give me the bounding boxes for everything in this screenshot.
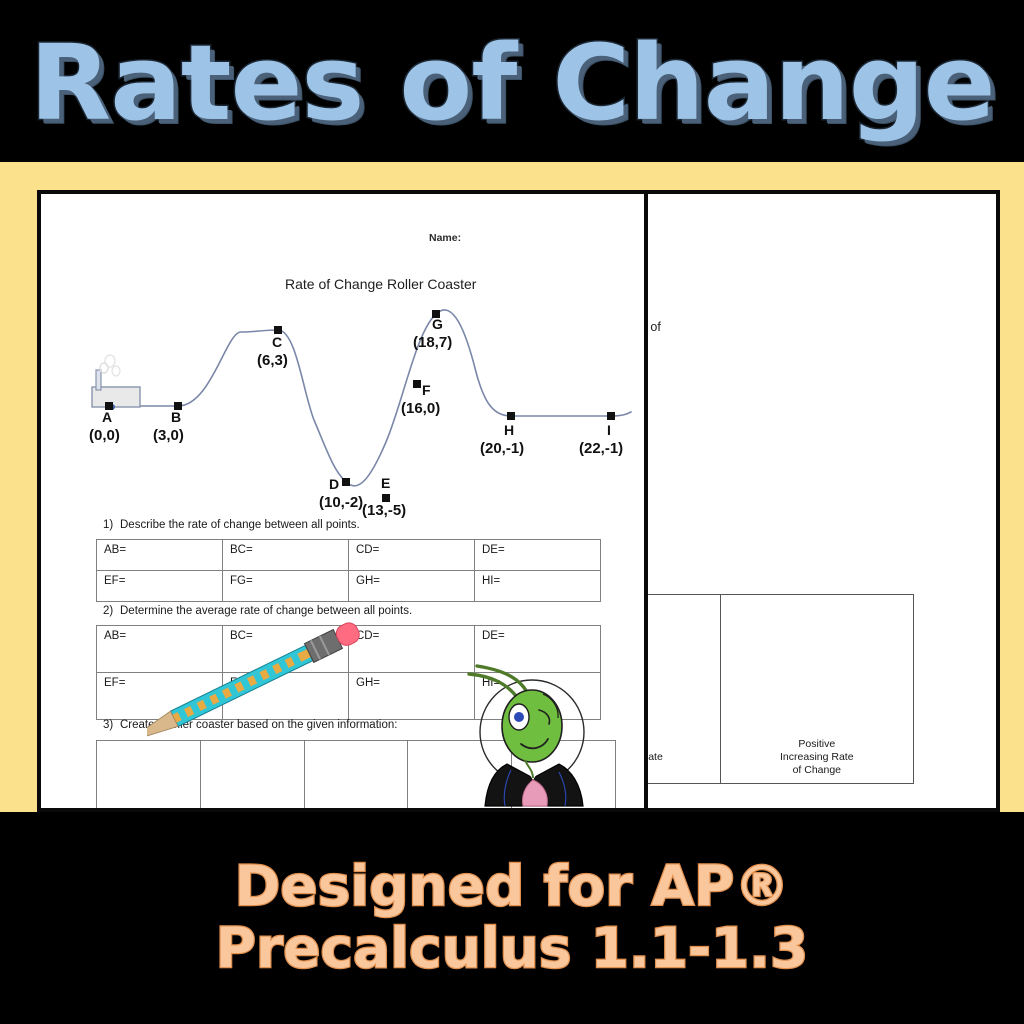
question-3-number: 3) xyxy=(103,719,120,731)
point-label-G: G xyxy=(432,316,443,332)
point-label-D: D xyxy=(329,476,339,492)
cell-fg-1[interactable]: FG= xyxy=(223,571,349,602)
question-1-text: Describe the rate of change between all … xyxy=(120,519,360,531)
cell-bc-2[interactable]: BC= xyxy=(223,626,349,673)
question-1-number: 1) xyxy=(103,519,120,531)
table-row: AB= BC= CD= DE= xyxy=(97,540,601,571)
cell-ab-1[interactable]: AB= xyxy=(97,540,223,571)
cell-hi-2[interactable]: HI= xyxy=(475,673,601,720)
q3-cell-1[interactable] xyxy=(97,741,201,813)
cell-cd-1[interactable]: CD= xyxy=(349,540,475,571)
point-coord-C: (6,3) xyxy=(257,352,288,369)
cell-gh-2[interactable]: GH= xyxy=(349,673,475,720)
question-1-table[interactable]: AB= BC= CD= DE= EF= FG= GH= HI= xyxy=(96,539,601,602)
bottom-line-2: Precalculus 1.1-1.3 xyxy=(216,920,809,978)
point-label-H: H xyxy=(504,422,514,438)
cell-gh-1[interactable]: GH= xyxy=(349,571,475,602)
cell-de-2[interactable]: DE= xyxy=(475,626,601,673)
table-row xyxy=(97,741,616,813)
point-label-I: I xyxy=(607,422,611,438)
point-label-F: F xyxy=(422,382,431,398)
bottom-line-1: Designed for AP® xyxy=(235,858,790,916)
page1-name-label: Name: xyxy=(429,232,461,244)
cell-bc-1[interactable]: BC= xyxy=(223,540,349,571)
question-1: 1)Describe the rate of change between al… xyxy=(103,519,360,531)
point-coord-F: (16,0) xyxy=(401,400,440,417)
point-coord-B: (3,0) xyxy=(153,427,184,444)
q3-cell-4[interactable] xyxy=(408,741,512,813)
question-3: 3)Create a roller coaster based on the g… xyxy=(103,719,397,731)
point-coord-G: (18,7) xyxy=(413,334,452,351)
table-row: EF= FG= GH= HI= xyxy=(97,673,601,720)
cell-hi-1[interactable]: HI= xyxy=(475,571,601,602)
point-coord-D: (10,-2) xyxy=(319,494,363,511)
page-title: Rates of Change xyxy=(29,31,994,135)
question-2-table[interactable]: AB= BC= CD= DE= EF= FG= GH= HI= xyxy=(96,625,601,720)
category-cell-3[interactable]: Positive Increasing Rate of Change xyxy=(720,595,913,784)
point-label-B: B xyxy=(171,409,181,425)
cell-de-1[interactable]: DE= xyxy=(475,540,601,571)
point-label-E: E xyxy=(381,475,390,491)
cell-ab-2[interactable]: AB= xyxy=(97,626,223,673)
table-row: EF= FG= GH= HI= xyxy=(97,571,601,602)
question-3-table[interactable] xyxy=(96,740,616,812)
point-label-A: A xyxy=(102,409,112,425)
question-3-text: Create a roller coaster based on the giv… xyxy=(120,719,397,731)
table-row: AB= BC= CD= DE= xyxy=(97,626,601,673)
q3-cell-3[interactable] xyxy=(304,741,408,813)
point-coord-A: (0,0) xyxy=(89,427,120,444)
question-2: 2)Determine the average rate of change b… xyxy=(103,605,412,617)
worksheet-page-1[interactable]: Name: Rate of Change Roller Coaster xyxy=(37,190,648,812)
cell-cd-2[interactable]: CD= xyxy=(349,626,475,673)
bottom-marketing-banner: Designed for AP® Precalculus 1.1-1.3 xyxy=(0,812,1024,1024)
category-label-3: Positive Increasing Rate of Change xyxy=(780,738,854,776)
cell-ef-1[interactable]: EF= xyxy=(97,571,223,602)
worksheet-previews: Name: f Change Roller Coaster increasing… xyxy=(37,190,1000,812)
point-coord-H: (20,-1) xyxy=(480,440,524,457)
point-coord-E: (13,-5) xyxy=(362,502,406,519)
q3-cell-5[interactable] xyxy=(512,741,616,813)
question-2-text: Determine the average rate of change bet… xyxy=(120,605,412,617)
point-label-C: C xyxy=(272,334,282,350)
question-2-number: 2) xyxy=(103,605,120,617)
top-title-banner: Rates of Change xyxy=(0,0,1024,162)
coaster-curve-svg xyxy=(41,272,648,512)
roller-coaster-graph: A (0,0) B (3,0) C (6,3) D (10,-2) E (13,… xyxy=(41,272,648,512)
roller-coaster-cart-icon xyxy=(92,355,140,410)
cell-ef-2[interactable]: EF= xyxy=(97,673,223,720)
q3-cell-2[interactable] xyxy=(200,741,304,813)
cell-fg-2[interactable]: FG= xyxy=(223,673,349,720)
point-coord-I: (22,-1) xyxy=(579,440,623,457)
